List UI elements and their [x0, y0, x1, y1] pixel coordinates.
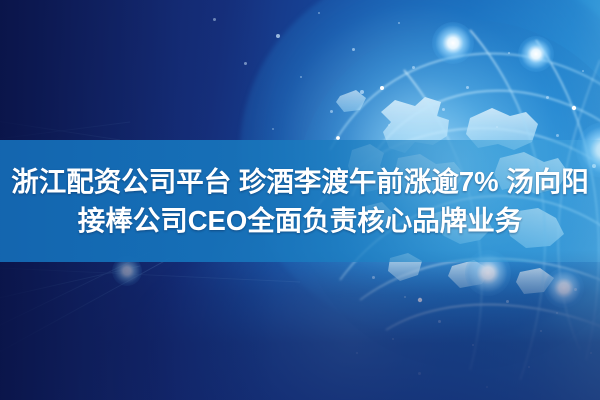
news-banner-image: 浙江配资公司平台 珍酒李渡午前涨逾7% 汤向阳 接棒公司CEO全面负责核心品牌业…	[0, 0, 600, 400]
headline-text-block: 浙江配资公司平台 珍酒李渡午前涨逾7% 汤向阳 接棒公司CEO全面负责核心品牌业…	[0, 140, 600, 262]
headline-line-2: 接棒公司CEO全面负责核心品牌业务	[78, 204, 523, 238]
headline-line-1: 浙江配资公司平台 珍酒李渡午前涨逾7% 汤向阳	[11, 165, 589, 199]
